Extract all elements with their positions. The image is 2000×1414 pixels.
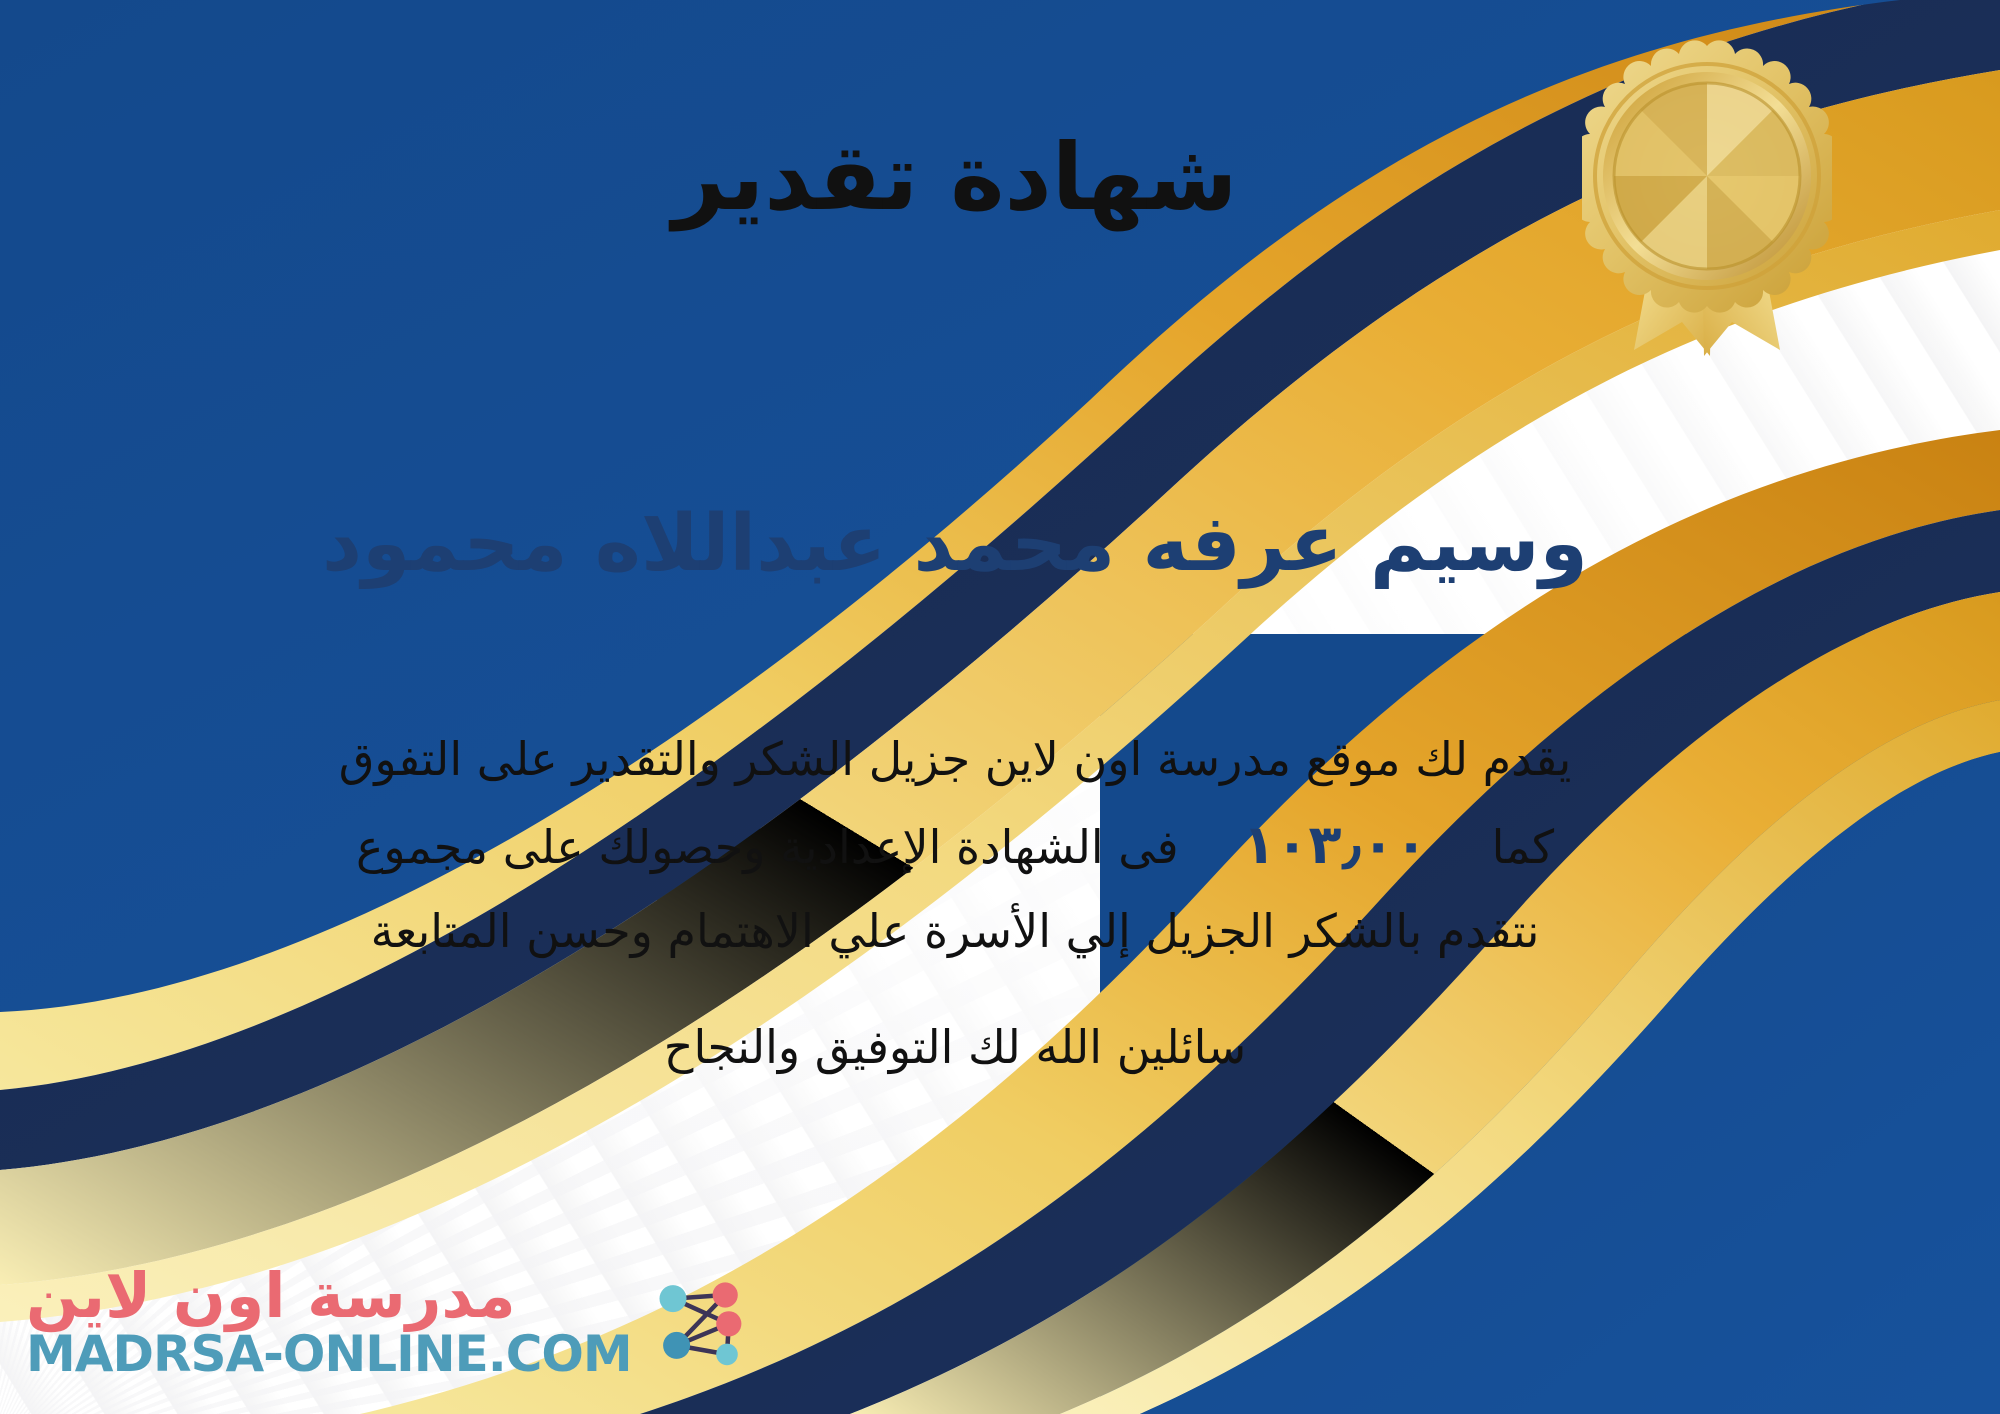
network-nodes-icon <box>646 1268 754 1376</box>
brand-logo-text: مدرسة اون لاين MADRSA-ONLINE.COM <box>26 1264 632 1380</box>
certificate-canvas: شهادة تقدير وسيم عرفه محمد عبداللاه محمو… <box>0 0 2000 1414</box>
gold-award-medal-icon <box>1582 38 1832 358</box>
brand-logo[interactable]: مدرسة اون لاين MADRSA-ONLINE.COM <box>26 1264 754 1380</box>
brand-name-arabic: مدرسة اون لاين <box>26 1264 516 1327</box>
brand-name-english: MADRSA-ONLINE.COM <box>26 1328 632 1381</box>
